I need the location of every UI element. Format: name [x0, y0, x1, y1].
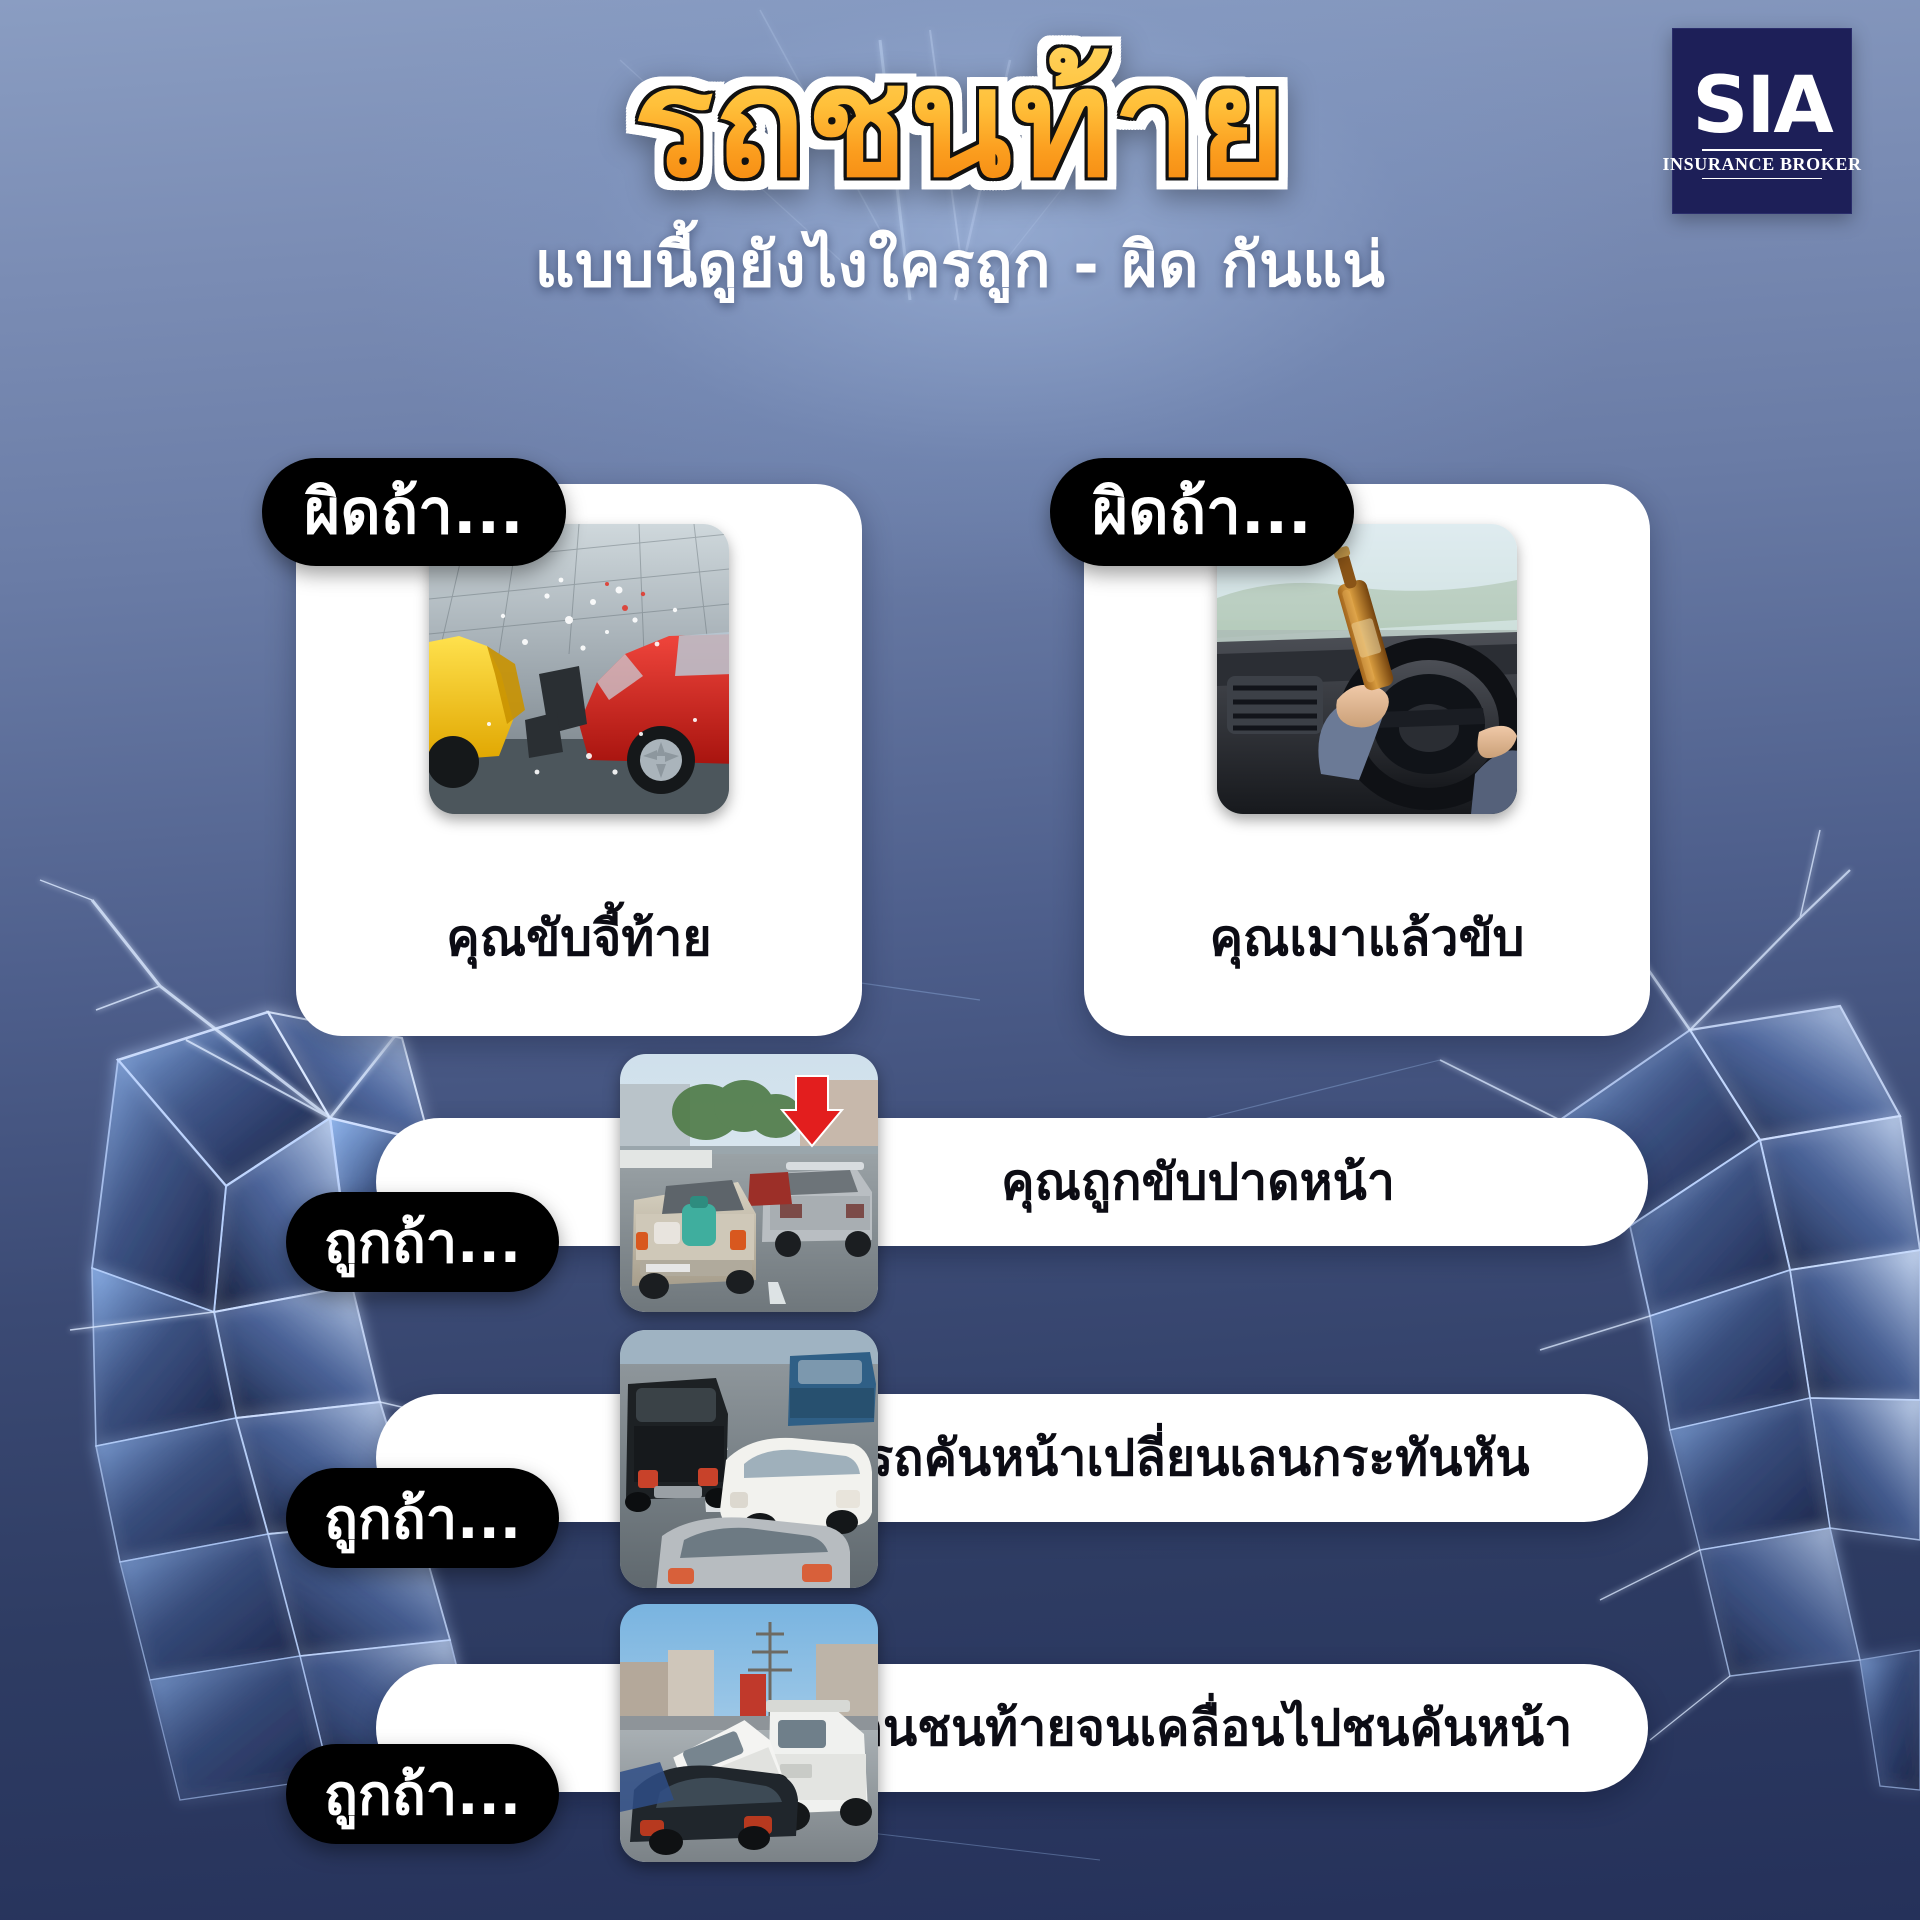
victim-bar-3: โดนชนท้ายจนเคลื่อนไปชนคันหน้า — [376, 1664, 1648, 1792]
victim-bar-3-text: โดนชนท้ายจนเคลื่อนไปชนคันหน้า — [748, 1689, 1648, 1768]
pickup-cut-off-dashcam-photo — [620, 1054, 878, 1312]
victim-pill-3-label: ถูกถ้า... — [324, 1750, 521, 1839]
fault-card-2-caption: คุณเมาแล้วขับ — [1084, 899, 1650, 978]
infographic-poster: รถชนท้าย แบบนี้ดูยังไงใครถูก - ผิด กันแน… — [0, 0, 1920, 1920]
victim-pill-3: ถูกถ้า... — [286, 1744, 559, 1844]
page-subtitle: แบบนี้ดูยังไงใครถูก - ผิด กันแน่ — [0, 216, 1920, 314]
victim-bar-1-text: คุณถูกขับปาดหน้า — [748, 1143, 1648, 1222]
victim-bar-2-text: รถคันหน้าเปลี่ยนเลนกระทันหัน — [748, 1419, 1648, 1498]
drunk-driving-bottle-photo — [1217, 524, 1517, 814]
logo-tagline: INSURANCE BROKER — [1662, 154, 1861, 175]
logo-divider — [1702, 149, 1822, 151]
truck-pileup-photo — [620, 1604, 878, 1862]
poster-header: รถชนท้าย แบบนี้ดูยังไงใครถูก - ผิด กันแน… — [0, 46, 1920, 314]
fault-card-1-caption: คุณขับจี้ท้าย — [296, 899, 862, 978]
fault-pill-1: ผิดถ้า... — [262, 458, 566, 566]
sia-logo: SIA INSURANCE BROKER — [1672, 28, 1852, 214]
fault-card-1: คุณขับจี้ท้าย — [296, 484, 862, 1036]
sudden-lane-change-photo — [620, 1330, 878, 1588]
victim-bar-2: รถคันหน้าเปลี่ยนเลนกระทันหัน — [376, 1394, 1648, 1522]
victim-bar-1: คุณถูกขับปาดหน้า — [376, 1118, 1648, 1246]
fault-pill-2: ผิดถ้า... — [1050, 458, 1354, 566]
victim-pill-2: ถูกถ้า... — [286, 1468, 559, 1568]
logo-divider-bottom — [1702, 178, 1822, 179]
victim-pill-1: ถูกถ้า... — [286, 1192, 559, 1292]
logo-wordmark: SIA — [1692, 71, 1832, 143]
page-title: รถชนท้าย — [623, 46, 1297, 202]
fault-pill-2-label: ผิดถ้า... — [1092, 463, 1312, 561]
fault-card-2: คุณเมาแล้วขับ — [1084, 484, 1650, 1036]
victim-pill-1-label: ถูกถ้า... — [324, 1198, 521, 1287]
fault-pill-1-label: ผิดถ้า... — [304, 463, 524, 561]
victim-pill-2-label: ถูกถ้า... — [324, 1474, 521, 1563]
car-rear-end-crash-photo — [429, 524, 729, 814]
